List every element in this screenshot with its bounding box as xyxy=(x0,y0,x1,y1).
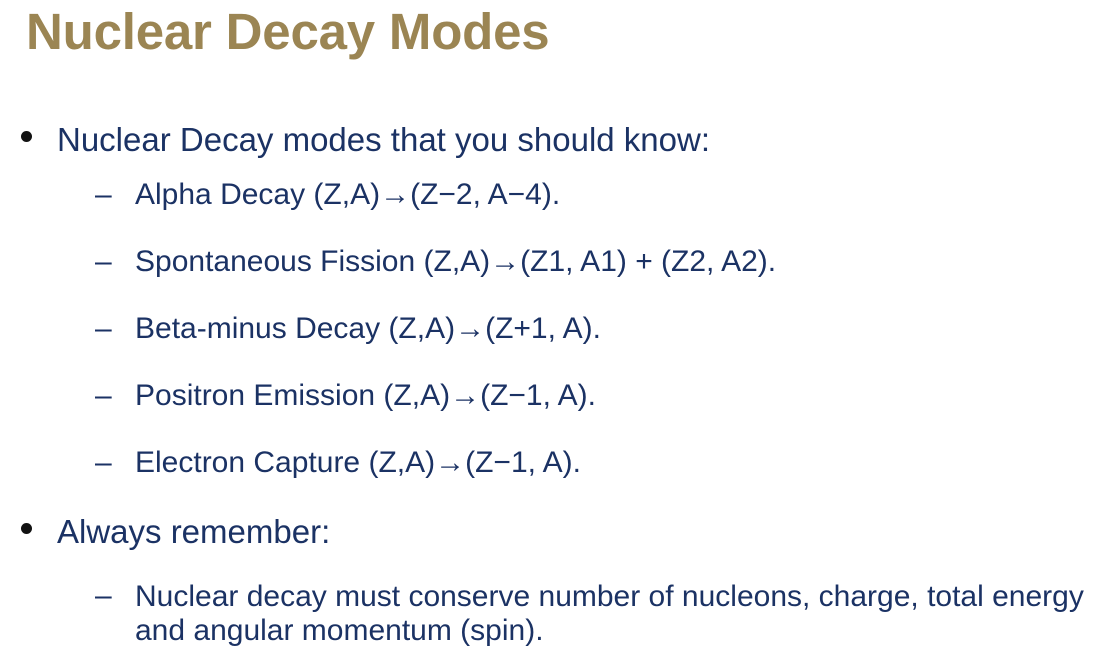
list-item: – Positron Emission (Z,A)→(Z−1, A). xyxy=(0,380,1118,447)
list-item: – Beta-minus Decay (Z,A)→(Z+1, A). xyxy=(0,313,1118,380)
dash-marker-icon: – xyxy=(95,380,112,412)
dash-marker-icon: – xyxy=(95,580,112,612)
list-item-label: Alpha Decay (Z,A)→(Z−2, A−4). xyxy=(135,179,1118,211)
dash-marker-icon: – xyxy=(95,313,112,345)
slide-canvas: Nuclear Decay Modes Nuclear Decay modes … xyxy=(0,0,1118,663)
list-item: – Alpha Decay (Z,A)→(Z−2, A−4). xyxy=(0,179,1118,246)
list-item-label: Always remember: xyxy=(57,514,1118,548)
dash-marker-icon: – xyxy=(95,179,112,211)
list-item: – Electron Capture (Z,A)→(Z−1, A). xyxy=(0,447,1118,514)
list-item-label: Electron Capture (Z,A)→(Z−1, A). xyxy=(135,447,1118,479)
list-item-label: Nuclear Decay modes that you should know… xyxy=(57,122,1118,156)
list-item-label: Spontaneous Fission (Z,A)→(Z1, A1) + (Z2… xyxy=(135,246,1118,278)
list-item-label: Positron Emission (Z,A)→(Z−1, A). xyxy=(135,380,1118,412)
list-item: – Nuclear decay must conserve number of … xyxy=(0,580,1118,647)
list-item: Always remember: xyxy=(0,514,1118,571)
list-item-label: Nuclear decay must conserve number of nu… xyxy=(135,580,1095,647)
list-item: Nuclear Decay modes that you should know… xyxy=(0,122,1118,179)
spacer xyxy=(0,571,1118,580)
page-title: Nuclear Decay Modes xyxy=(26,2,549,62)
list-item: – Spontaneous Fission (Z,A)→(Z1, A1) + (… xyxy=(0,246,1118,313)
list-item-label: Beta-minus Decay (Z,A)→(Z+1, A). xyxy=(135,313,1118,345)
dash-marker-icon: – xyxy=(95,246,112,278)
bullet-dot-icon xyxy=(21,131,32,142)
bullet-dot-icon xyxy=(21,523,32,534)
bullet-list: Nuclear Decay modes that you should know… xyxy=(0,122,1118,647)
dash-marker-icon: – xyxy=(95,447,112,479)
